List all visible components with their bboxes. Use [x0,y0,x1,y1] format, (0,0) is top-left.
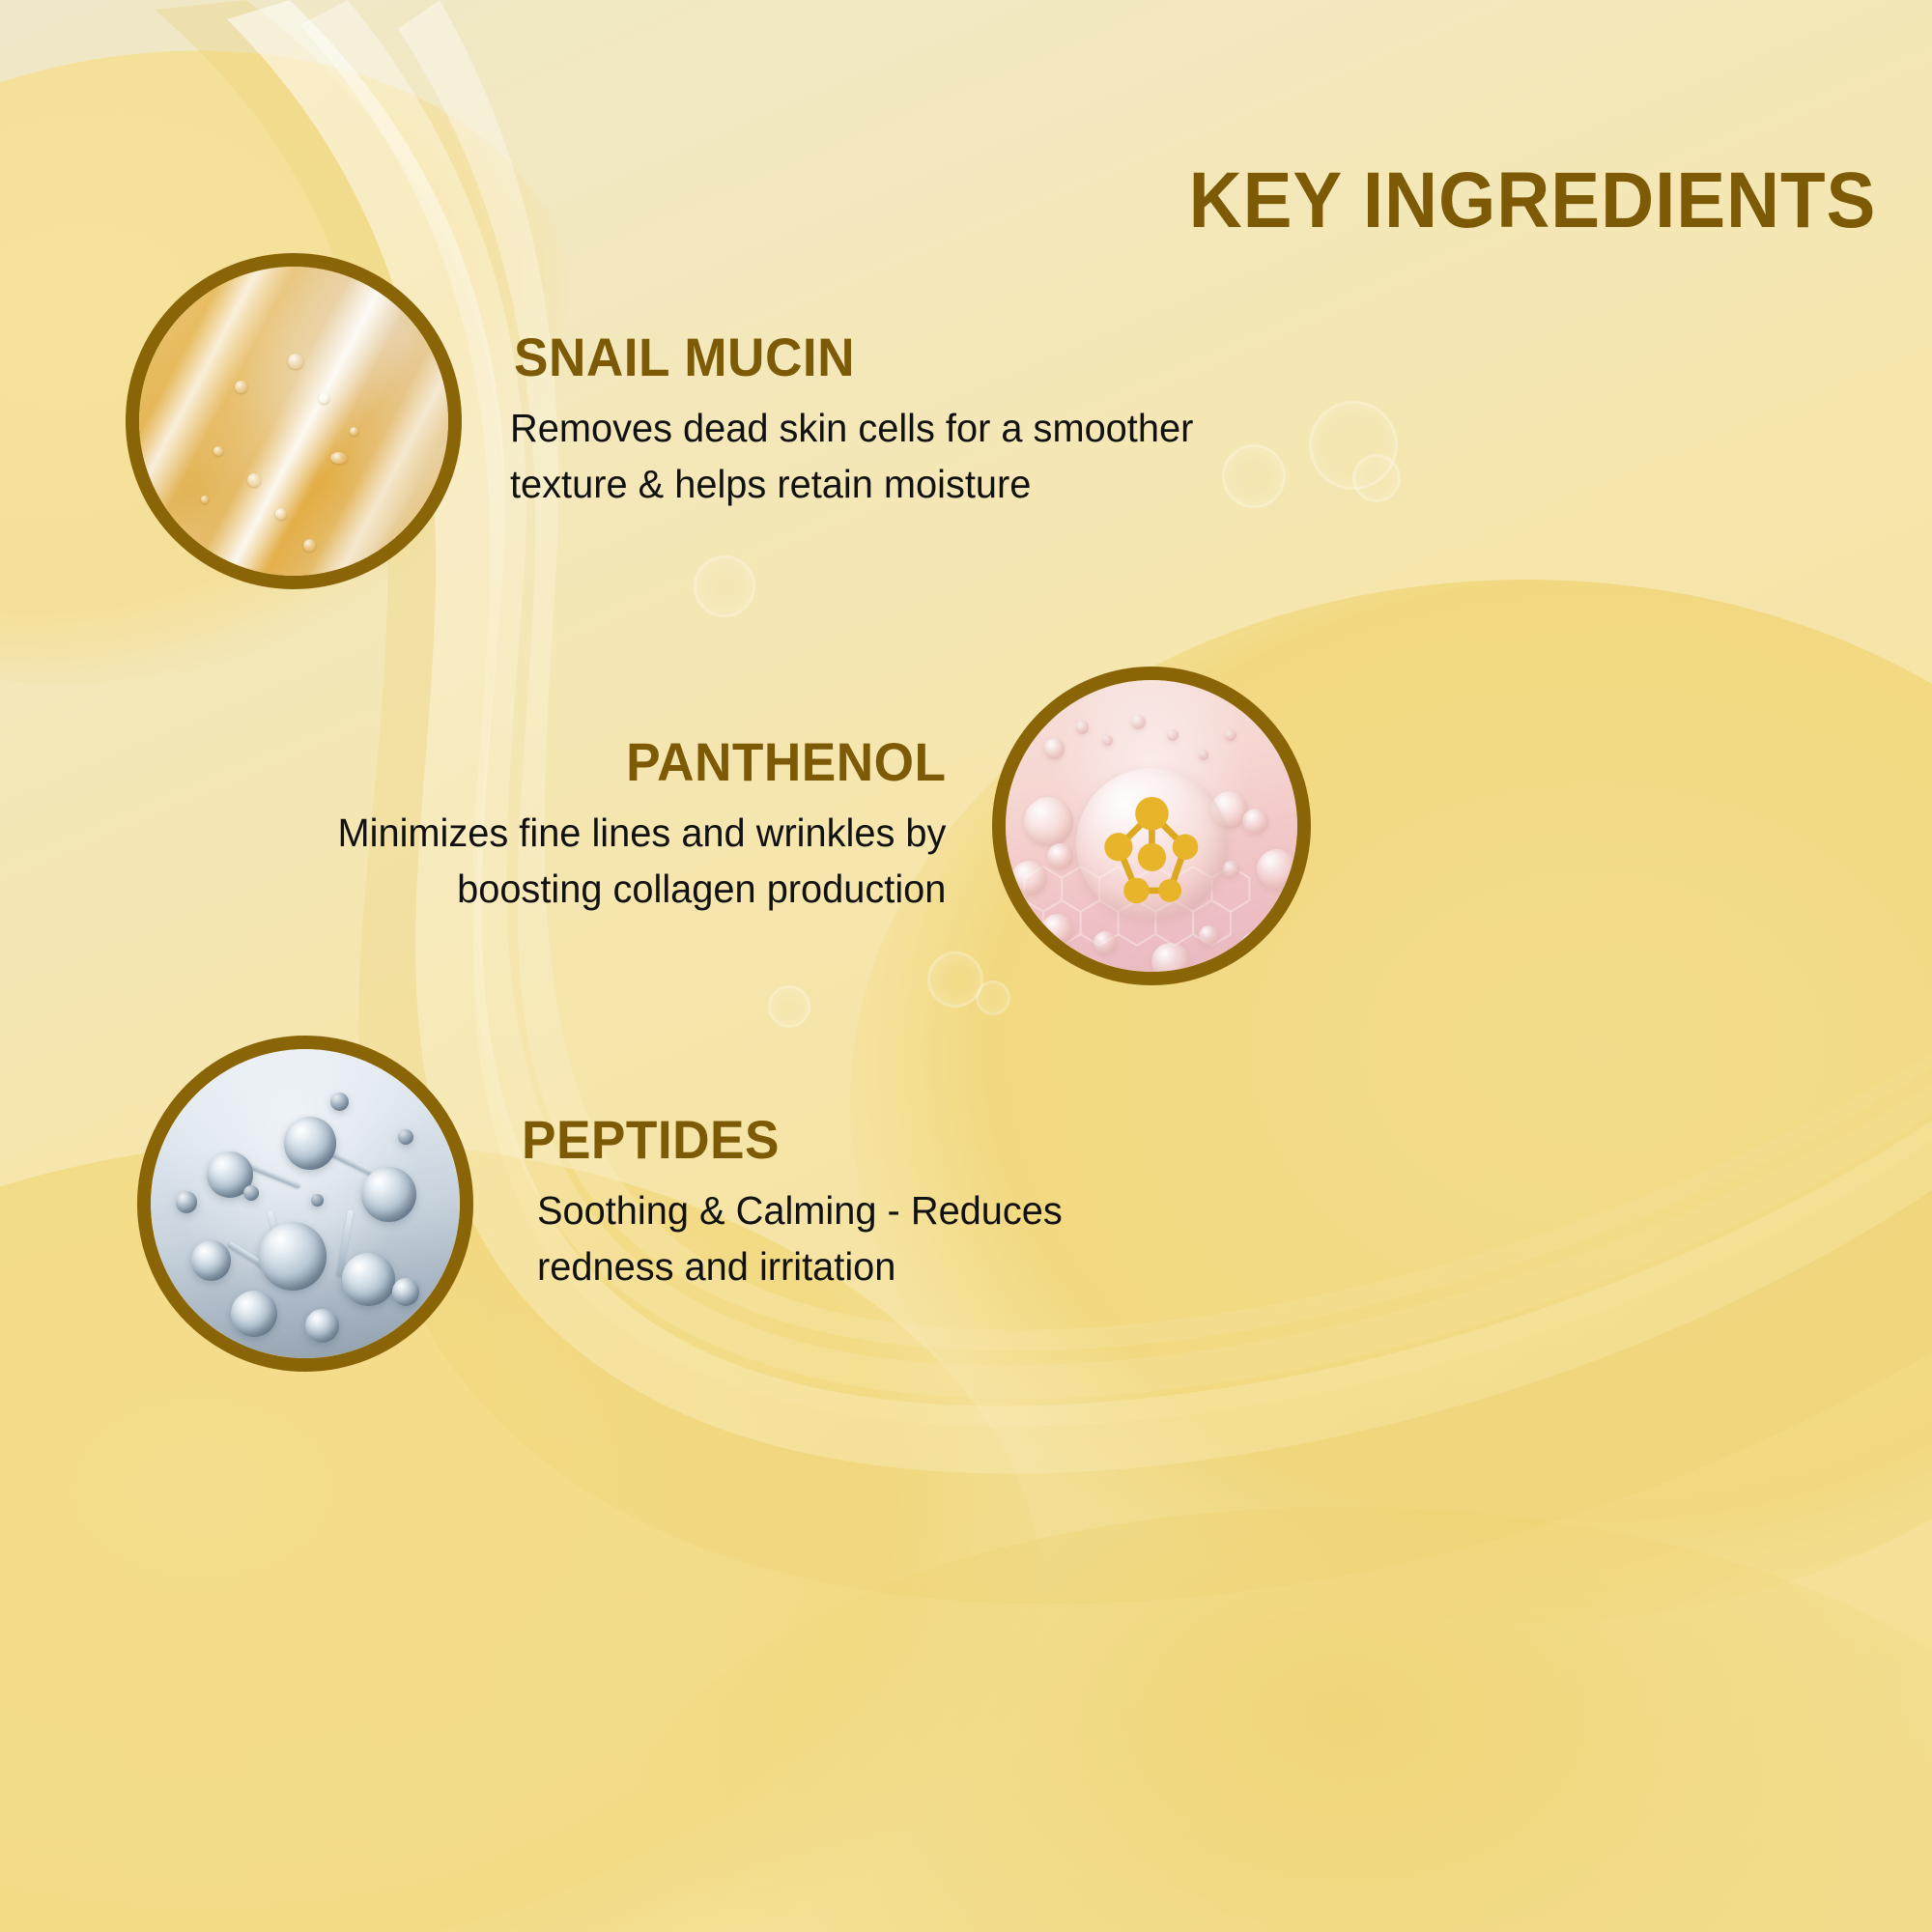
page-title: KEY INGREDIENTS [1188,161,1876,241]
snail-mucin-gel-texture-photo [126,253,462,589]
ingredient-row-peptides: PEPTIDES Soothing & Calming - Reduces re… [137,1036,1079,1372]
desc-line-1: Soothing & Calming - Reduces [537,1182,1063,1238]
panthenol-gold-molecule-bubble-photo [992,667,1311,985]
desc-line-2: texture & helps retain moisture [510,456,1193,512]
desc-line-1: Minimizes fine lines and wrinkles by [337,805,946,861]
bubble-ring-decor [1222,444,1286,508]
bubble-ring-decor [1352,454,1401,502]
bubble-ring-decor [976,980,1010,1015]
ingredient-desc-snail-mucin: Removes dead skin cells for a smoother t… [510,400,1193,512]
snail-mucin-text-block: SNAIL MUCIN Removes dead skin cells for … [510,329,1214,512]
desc-line-2: boosting collagen production [337,861,946,917]
ingredient-name-panthenol: PANTHENOL [350,734,946,791]
peptides-text-block: PEPTIDES Soothing & Calming - Reduces re… [520,1112,1079,1294]
ingredient-name-snail-mucin: SNAIL MUCIN [514,329,1179,386]
desc-line-1: Removes dead skin cells for a smoother [510,400,1193,456]
ingredient-name-peptides: PEPTIDES [522,1112,1051,1169]
desc-line-2: redness and irritation [537,1238,1063,1294]
peptides-silver-molecule-photo [137,1036,473,1372]
ingredient-desc-peptides: Soothing & Calming - Reduces redness and… [537,1182,1063,1294]
ingredient-desc-panthenol: Minimizes fine lines and wrinkles by boo… [337,805,946,917]
panthenol-text-block: PANTHENOL Minimizes fine lines and wrink… [319,734,946,917]
background-blob-bottom [618,1507,1932,1932]
bubble-ring-decor [768,985,810,1028]
bubble-ring-decor [1309,401,1398,490]
infographic-canvas: KEY INGREDIENTS SNAIL MUCIN Removes dead… [0,0,1932,1932]
ingredient-row-snail-mucin: SNAIL MUCIN Removes dead skin cells for … [126,253,1214,589]
ingredient-row-panthenol: PANTHENOL Minimizes fine lines and wrink… [319,667,1311,985]
